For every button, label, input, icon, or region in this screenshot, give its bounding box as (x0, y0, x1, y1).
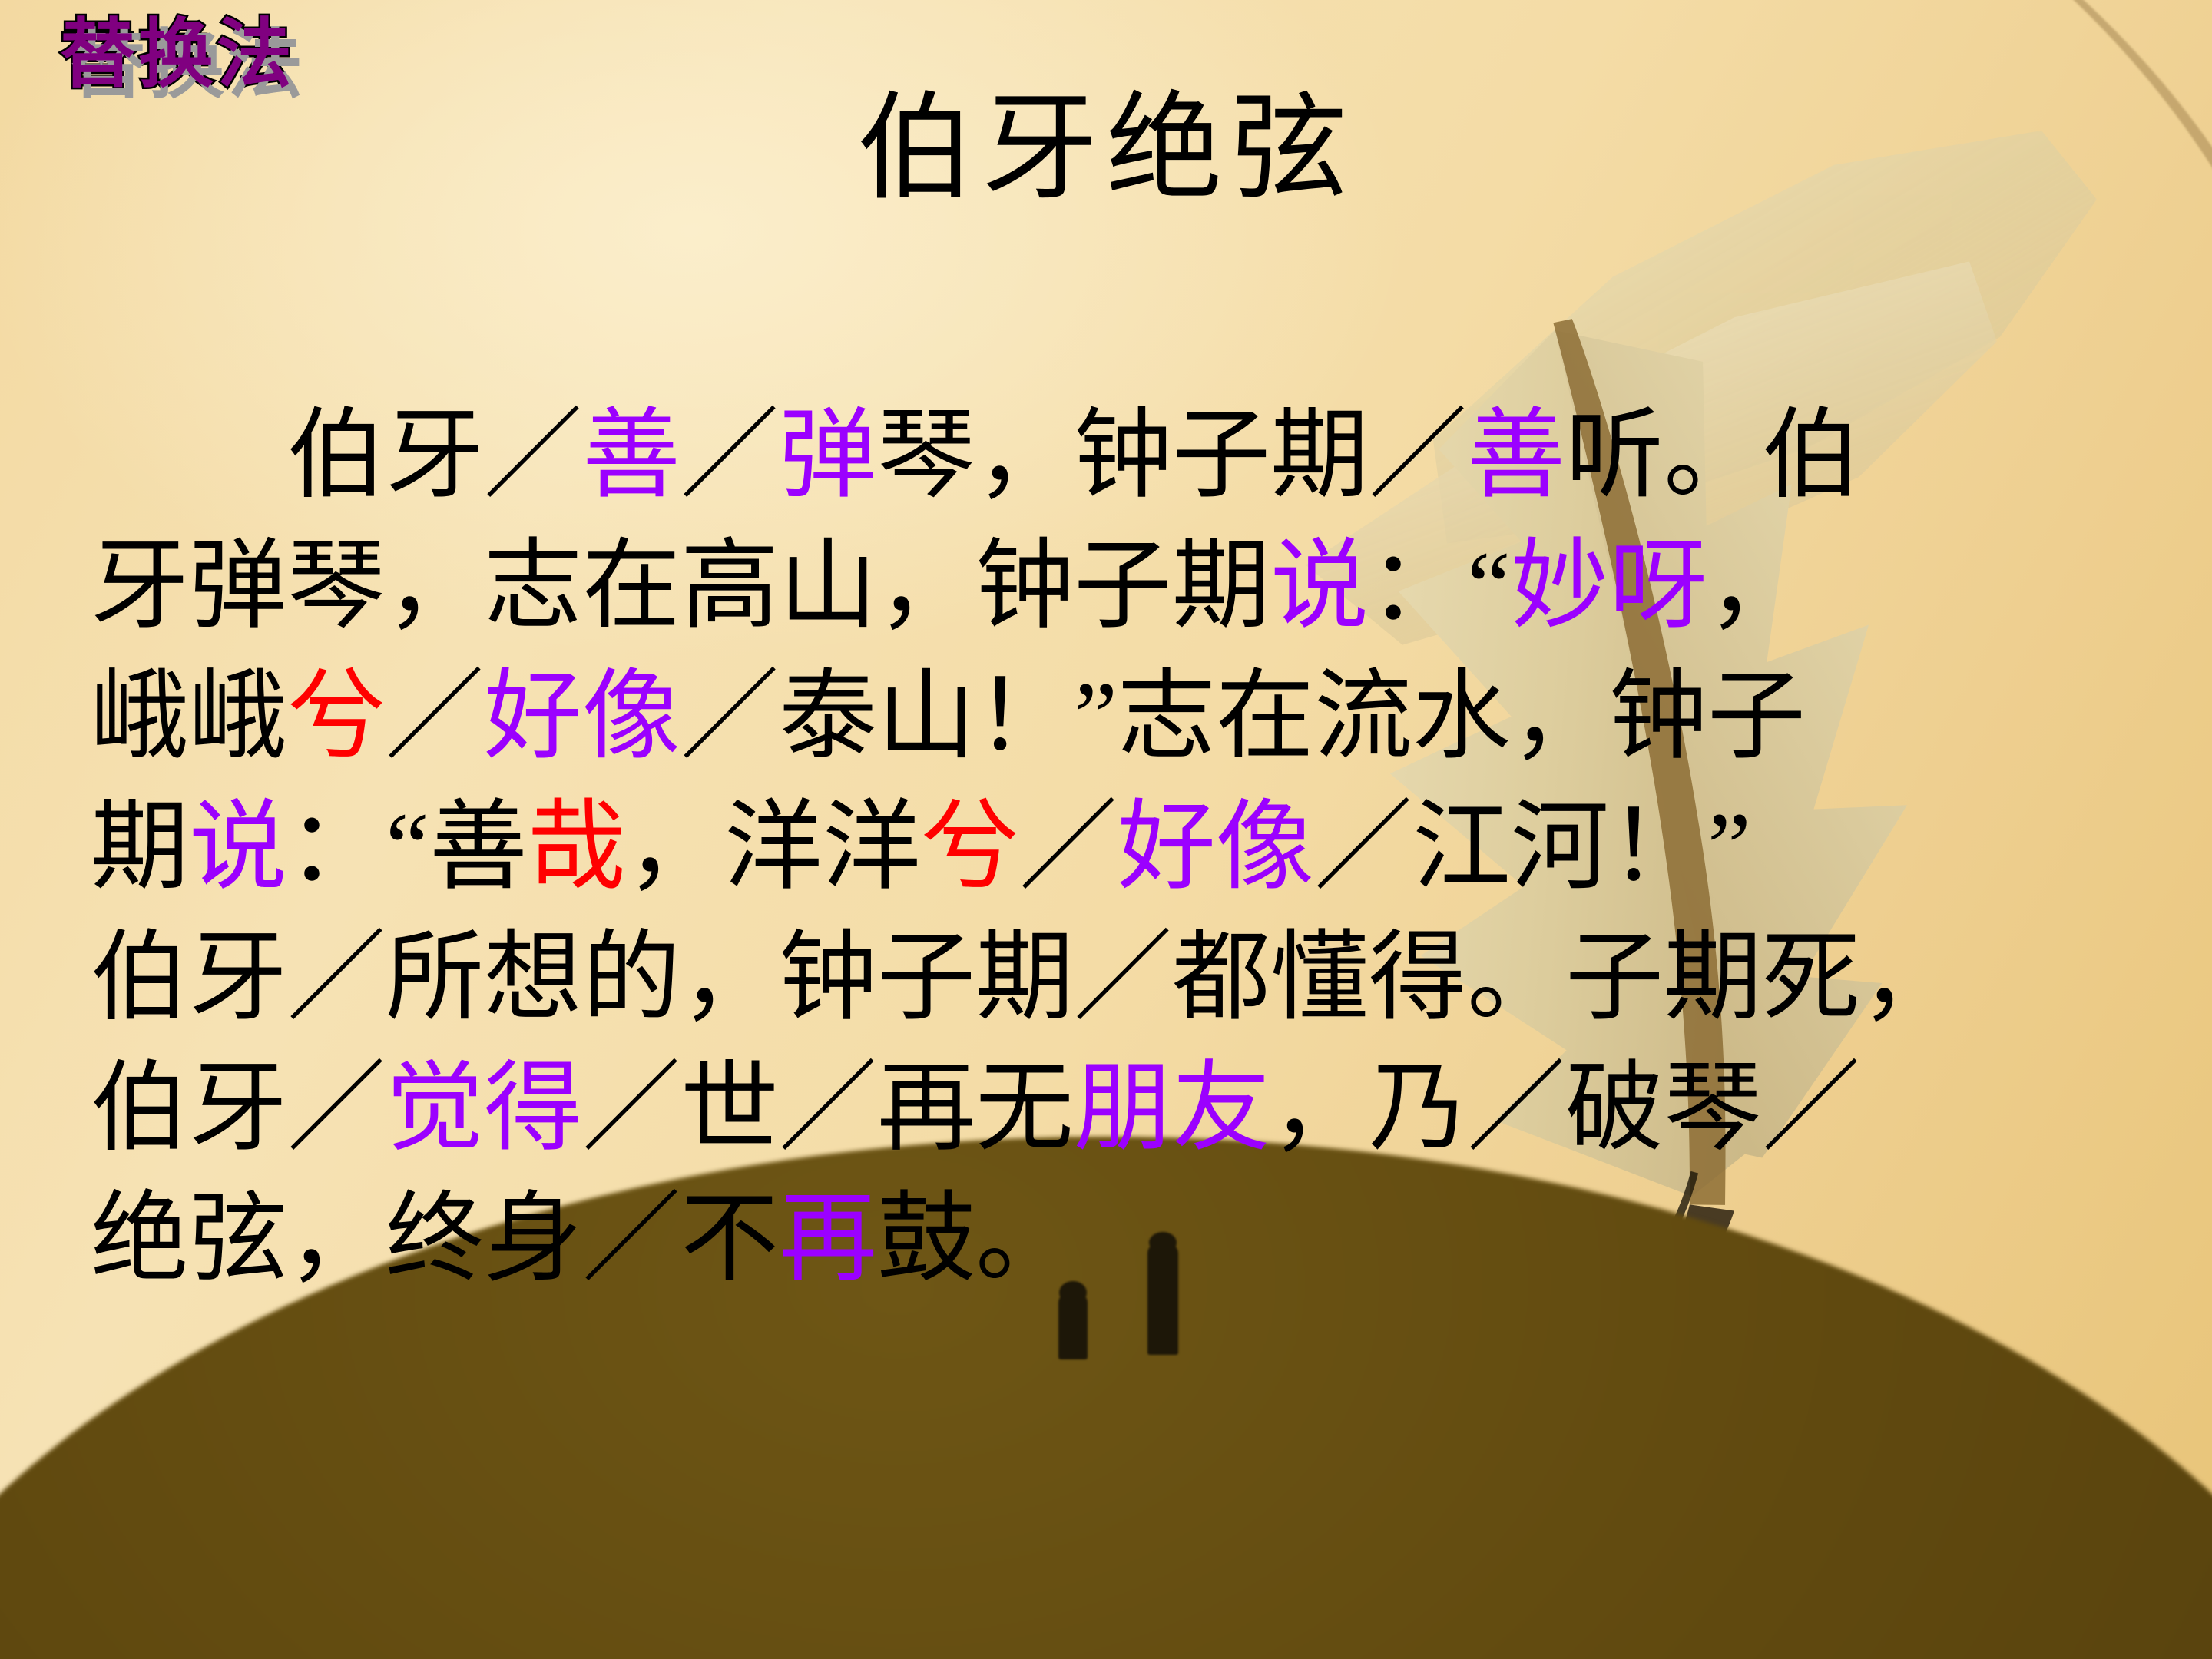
text-line: 伯牙／所想的，钟子期／都懂得。子期死， (91, 912, 2134, 1043)
text-segment-black: ／世／再无 (582, 1054, 1074, 1163)
text-segment-purple: 好像 (1118, 793, 1314, 902)
text-segment-purple: 说 (189, 793, 287, 902)
text-segment-purple: 好像 (484, 662, 680, 771)
text-segment-black: ／ (680, 401, 779, 510)
text-segment-black: ／泰山！”志在流水，钟子 (680, 662, 1806, 771)
text-segment-purple: 说 (1270, 531, 1369, 641)
text-line: 峨峨兮／好像／泰山！”志在流水，钟子 (91, 651, 2134, 782)
corner-label-substitution-method: 替换法 (60, 15, 295, 94)
text-segment-black: ，洋洋 (626, 793, 921, 902)
text-segment-red: 兮 (921, 793, 1019, 902)
text-segment-black: 峨峨 (91, 662, 287, 771)
text-segment-purple: 朋友 (1074, 1054, 1270, 1163)
text-line: 伯牙／觉得／世／再无朋友，乃／破琴／ (91, 1043, 2134, 1174)
text-segment-purple: 再 (779, 1184, 877, 1293)
text-line: 伯牙／善／弹琴，钟子期／善听。伯 (91, 390, 2134, 521)
text-segment-black: 伯牙／所想的，钟子期／都懂得。子期死， (91, 923, 1959, 1032)
classical-text-body: 伯牙／善／弹琴，钟子期／善听。伯牙弹琴，志在高山，钟子期说：“妙呀，峨峨兮／好像… (91, 390, 2134, 1304)
slide-canvas: 替换法 伯牙绝弦 伯牙／善／弹琴，钟子期／善听。伯牙弹琴，志在高山，钟子期说：“… (0, 0, 2212, 1659)
text-segment-black: 鼓。 (877, 1184, 1074, 1293)
text-segment-black: ：“ (1369, 531, 1511, 641)
text-segment-purple: 弹 (779, 401, 877, 510)
text-segment-black: 绝弦，终身／不 (91, 1184, 779, 1293)
text-line: 绝弦，终身／不再鼓。 (91, 1174, 2134, 1304)
text-segment-purple: 善 (582, 401, 680, 510)
text-segment-purple: 善 (1467, 401, 1565, 510)
text-segment-black: 期 (91, 793, 189, 902)
text-segment-black: ／江河！” (1314, 793, 1751, 902)
text-segment-red: 哉 (528, 793, 626, 902)
text-segment-black: ：“善 (287, 793, 528, 902)
text-segment-black: ／ (386, 662, 484, 771)
text-segment-black: ，乃／破琴／ (1270, 1054, 1860, 1163)
text-segment-black: 琴，钟子期／ (877, 401, 1467, 510)
text-segment-black: 听。伯 (1565, 401, 1860, 510)
text-segment-black: 伯牙／ (91, 401, 582, 510)
text-segment-purple: 觉得 (386, 1054, 582, 1163)
text-line: 期说：“善哉，洋洋兮／好像／江河！” (91, 782, 2134, 912)
text-segment-black: ／ (1019, 793, 1118, 902)
text-segment-black: ， (1707, 531, 1806, 641)
text-line: 牙弹琴，志在高山，钟子期说：“妙呀， (91, 521, 2134, 651)
slide-title: 伯牙绝弦 (0, 91, 2212, 207)
text-segment-black: 牙弹琴，志在高山，钟子期 (91, 531, 1270, 641)
text-segment-red: 兮 (287, 662, 386, 771)
text-segment-purple: 妙呀 (1511, 531, 1707, 641)
text-segment-black: 伯牙／ (91, 1054, 386, 1163)
